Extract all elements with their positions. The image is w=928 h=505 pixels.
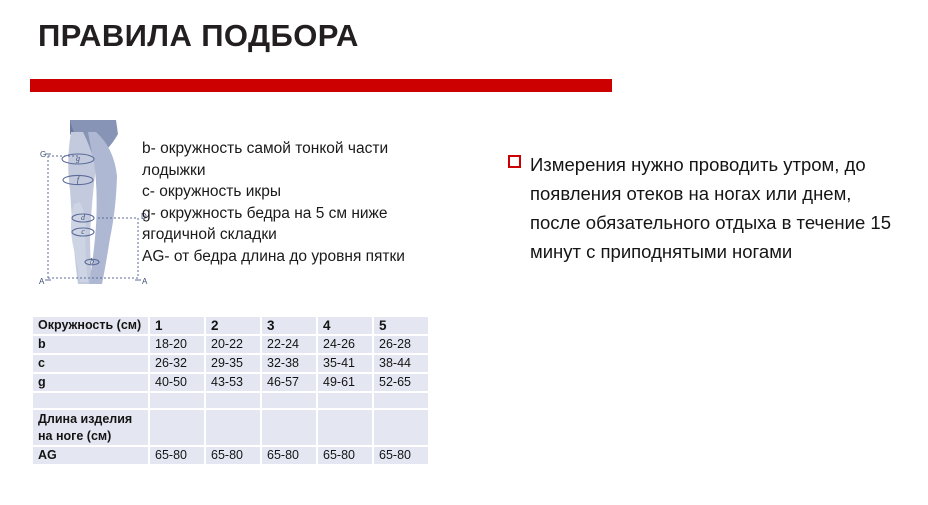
row-label: AG [33, 447, 148, 464]
legend-line: ягодичной складки [142, 224, 442, 246]
advice-bullet-text: Измерения нужно проводить утром, до появ… [530, 150, 902, 266]
label-g: g [76, 154, 80, 163]
row-cell: 65-80 [262, 447, 316, 464]
length-section-label-line2: на ноге (см) [38, 429, 111, 443]
row-cell [374, 393, 428, 408]
row-cell: 22-24 [262, 336, 316, 353]
marker-a-right: A [142, 277, 148, 286]
row-cell [262, 393, 316, 408]
row-cell [206, 393, 260, 408]
table-header-size: 2 [206, 317, 260, 334]
row-cell: 65-80 [150, 447, 204, 464]
legend-line: AG- от бедра длина до уровня пятки [142, 246, 442, 268]
row-cell [206, 410, 260, 445]
leg-measurement-diagram: g f d c b G D A A [38, 118, 150, 290]
table-spacer-row [33, 393, 428, 408]
table-header-row: Окружность (см) 1 2 3 4 5 [33, 317, 428, 334]
table-row: b 18-20 20-22 22-24 24-26 26-28 [33, 336, 428, 353]
table-row: AG 65-80 65-80 65-80 65-80 65-80 [33, 447, 428, 464]
row-cell: 40-50 [150, 374, 204, 391]
row-cell: 46-57 [262, 374, 316, 391]
legend-line: c- окружность икры [142, 181, 442, 203]
row-cell [150, 393, 204, 408]
table-header-size: 4 [318, 317, 372, 334]
row-cell: 52-65 [374, 374, 428, 391]
title-accent-rule [30, 79, 612, 92]
row-cell [150, 410, 204, 445]
row-cell: 43-53 [206, 374, 260, 391]
page-title: ПРАВИЛА ПОДБОРА [38, 18, 359, 54]
row-cell: 32-38 [262, 355, 316, 372]
row-cell: 65-80 [206, 447, 260, 464]
measurement-legend: b- окружность самой тонкой части лодыжки… [142, 138, 442, 267]
table-row: g 40-50 43-53 46-57 49-61 52-65 [33, 374, 428, 391]
row-cell: 18-20 [150, 336, 204, 353]
size-table: Окружность (см) 1 2 3 4 5 b 18-20 20-22 … [31, 315, 430, 466]
length-section-label-line1: Длина изделия [38, 412, 132, 426]
legend-line: лодыжки [142, 160, 442, 182]
row-cell: 49-61 [318, 374, 372, 391]
legend-line: g- окружность бедра на 5 см ниже [142, 203, 442, 225]
row-label: b [33, 336, 148, 353]
advice-bullet: Измерения нужно проводить утром, до появ… [508, 150, 908, 266]
row-cell: 24-26 [318, 336, 372, 353]
table-header-size: 5 [374, 317, 428, 334]
row-label: g [33, 374, 148, 391]
table-section-header-row: Длина изделия на ноге (см) [33, 410, 428, 445]
row-cell: 65-80 [374, 447, 428, 464]
row-cell: 29-35 [206, 355, 260, 372]
table-header-size: 1 [150, 317, 204, 334]
row-label [33, 393, 148, 408]
row-label: c [33, 355, 148, 372]
row-cell [262, 410, 316, 445]
row-cell: 26-32 [150, 355, 204, 372]
row-cell: 65-80 [318, 447, 372, 464]
row-cell: 20-22 [206, 336, 260, 353]
row-cell: 26-28 [374, 336, 428, 353]
row-cell [374, 410, 428, 445]
table-header-label: Окружность (см) [33, 317, 148, 334]
row-cell: 38-44 [374, 355, 428, 372]
row-cell: 35-41 [318, 355, 372, 372]
label-c: c [81, 227, 85, 236]
table-header-size: 3 [262, 317, 316, 334]
table-row: c 26-32 29-35 32-38 35-41 38-44 [33, 355, 428, 372]
length-section-label: Длина изделия на ноге (см) [33, 410, 148, 445]
marker-g: G [40, 150, 46, 159]
legend-line: b- окружность самой тонкой части [142, 138, 442, 160]
row-cell [318, 410, 372, 445]
label-b: b [90, 257, 94, 266]
marker-a-left: A [39, 277, 45, 286]
row-cell [318, 393, 372, 408]
red-square-bullet-icon [508, 155, 521, 168]
